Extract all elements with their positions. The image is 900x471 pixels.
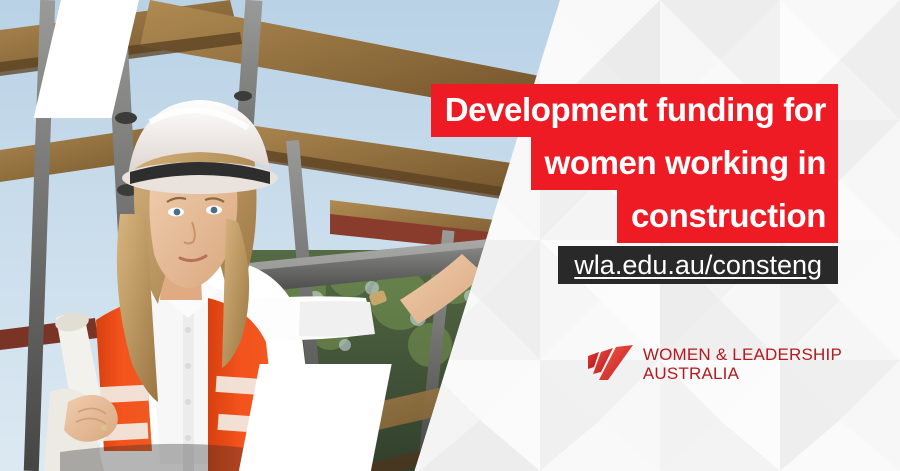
wla-logo-line-1: WOMEN & LEADERSHIP bbox=[643, 345, 842, 364]
url-text[interactable]: wla.edu.au/consteng bbox=[574, 250, 822, 280]
accent-shape-bottom-left bbox=[236, 364, 391, 471]
url-chip[interactable]: wla.edu.au/consteng bbox=[558, 246, 838, 284]
wla-logo[interactable]: WOMEN & LEADERSHIP AUSTRALIA bbox=[588, 345, 842, 383]
headline: Development funding for women working in… bbox=[431, 84, 838, 243]
headline-line-1: Development funding for bbox=[431, 84, 838, 137]
headline-line-3: construction bbox=[617, 190, 838, 243]
headline-line-2: women working in bbox=[531, 137, 838, 190]
wla-logo-line-2: AUSTRALIA bbox=[643, 364, 842, 383]
wla-chevron-mark-icon bbox=[588, 345, 634, 383]
promo-banner: Development funding for women working in… bbox=[0, 0, 900, 471]
wla-logo-text: WOMEN & LEADERSHIP AUSTRALIA bbox=[643, 345, 842, 383]
